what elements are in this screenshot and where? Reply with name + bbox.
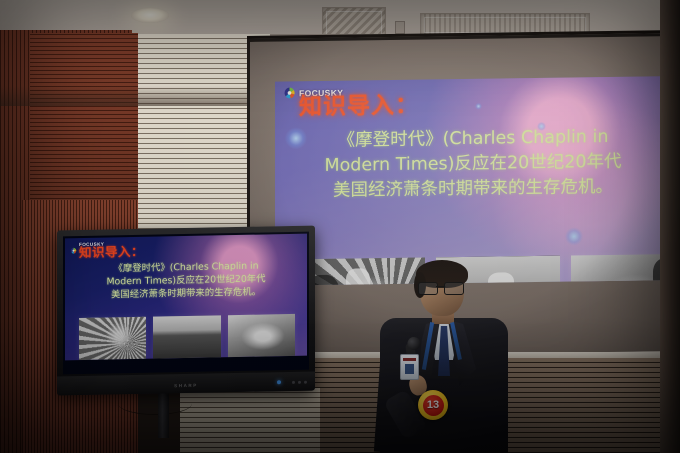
- wood-panel-left-upper: [30, 33, 138, 203]
- tv-slide-title: 知识导入：: [79, 241, 144, 261]
- focusky-logo-icon-tv: [70, 241, 77, 248]
- acoustic-panel-cream-bottom: [180, 388, 320, 453]
- tv-brand-label: SHARP: [174, 383, 198, 388]
- presenter-left-arm: [374, 331, 422, 453]
- presenter: 13: [378, 262, 510, 453]
- focusky-logo-icon: [283, 86, 296, 99]
- projected-slide: FOCUSKY 知识导入： 《摩登时代》(Charles Chaplin in …: [275, 76, 671, 286]
- tv-film-still-factory: [153, 315, 220, 358]
- tv-control-buttons[interactable]: [292, 381, 307, 384]
- id-badge: [400, 354, 419, 380]
- tv-screen[interactable]: FOCUSKY 知识导入： 《摩登时代》(Charles Chaplin in …: [63, 232, 309, 375]
- slide-title: 知识导入：: [299, 86, 419, 122]
- number-badge: 13: [418, 390, 448, 420]
- tv-film-still-gears: [79, 317, 146, 360]
- right-wall-edge: [660, 0, 680, 453]
- number-badge-value: 13: [423, 395, 444, 416]
- tv-stand: [158, 392, 169, 438]
- presentation-room-scene: FOCUSKY 知识导入： 《摩登时代》(Charles Chaplin in …: [0, 0, 680, 453]
- flat-panel-tv[interactable]: FOCUSKY 知识导入： 《摩登时代》(Charles Chaplin in …: [57, 226, 315, 396]
- ceiling-downlight-icon: [131, 8, 169, 23]
- glasses-icon: [418, 282, 464, 293]
- film-still-machine: [571, 254, 671, 286]
- ceiling-sensor-icon: [395, 21, 405, 34]
- tv-film-still-machine: [228, 314, 295, 357]
- tv-power-led-icon: [277, 380, 281, 384]
- tv-slide-mirror: FOCUSKY 知识导入： 《摩登时代》(Charles Chaplin in …: [65, 234, 307, 361]
- microphone-head-icon: [407, 336, 422, 351]
- slide-body-text: 《摩登时代》(Charles Chaplin in Modern Times)反…: [275, 124, 671, 204]
- slide-body-line-3: 美国经济萧条时期带来的生存危机。: [275, 174, 671, 204]
- tv-slide-image-row: [79, 314, 295, 360]
- tv-cable: [118, 392, 192, 415]
- tv-slide-body-text: 《摩登时代》(Charles Chaplin in Modern Times)反…: [65, 260, 307, 303]
